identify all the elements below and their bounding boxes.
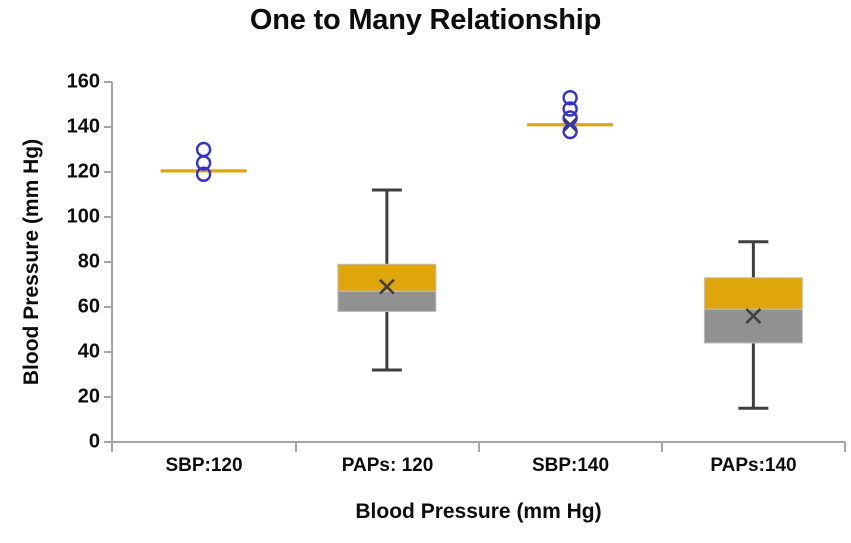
- outlier-point: [564, 125, 577, 138]
- lower-quartile-box: [338, 291, 436, 311]
- outlier-point: [564, 112, 577, 125]
- axis-lines: [104, 82, 845, 452]
- x-tick-label-sbp-120: SBP:120: [112, 455, 296, 477]
- box-group: [338, 190, 436, 370]
- upper-quartile-box: [704, 278, 802, 310]
- x-axis-title: Blood Pressure (mm Hg): [112, 500, 845, 524]
- box-series-layer: [161, 91, 803, 408]
- x-tick-label-paps-120: PAPs: 120: [296, 455, 479, 477]
- outlier-point: [197, 143, 210, 156]
- box-plot-chart: One to Many Relationship Blood Pressure …: [0, 0, 851, 543]
- box-group: [161, 143, 247, 181]
- x-tick-label-paps-140: PAPs:140: [662, 455, 845, 477]
- box-group: [704, 242, 802, 409]
- x-tick-label-sbp-140: SBP:140: [479, 455, 662, 477]
- box-group: [527, 91, 613, 138]
